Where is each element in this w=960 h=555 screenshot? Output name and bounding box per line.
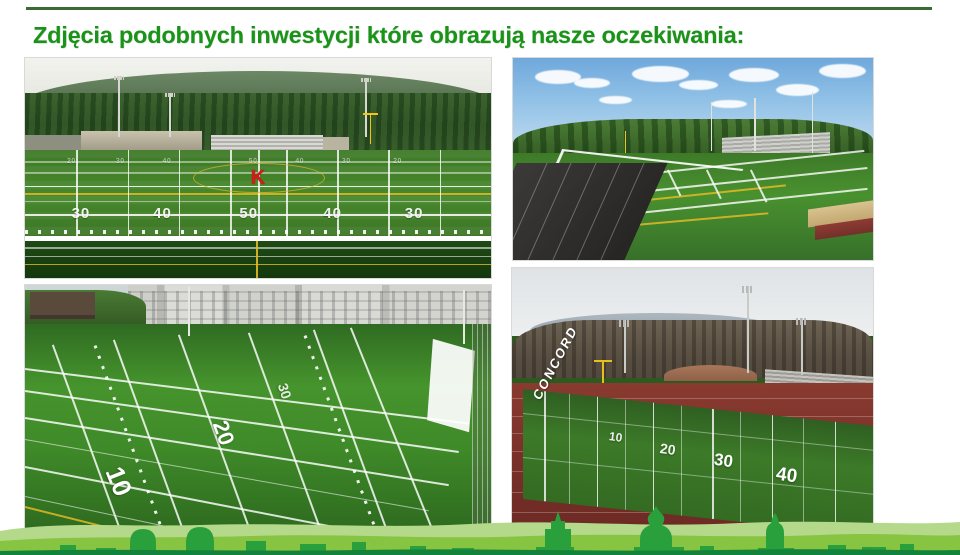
photo-1-scene: K 20 30 40 50 40 30 20 30 40 50 40 30 — [25, 58, 491, 278]
fieldhouse-building — [81, 131, 202, 153]
yard-number: 40 — [774, 463, 798, 488]
baseball-infield — [664, 365, 758, 381]
floodlight-pole — [463, 290, 465, 344]
house-building — [30, 292, 95, 319]
photo-field-with-running-track[interactable] — [513, 58, 873, 260]
skyline-foreground — [0, 549, 960, 555]
yard-number: 10 — [609, 430, 624, 446]
apartment-buildings — [128, 285, 491, 327]
yard-number-small: 40 — [162, 158, 171, 165]
floodlight-pole — [754, 98, 755, 151]
photo-4-scene: CONCORD 10 20 30 40 — [512, 268, 873, 530]
floodlight-pole — [188, 287, 190, 336]
floodlight-pole — [365, 78, 367, 137]
yard-number-small: 50 — [249, 158, 258, 165]
yard-number: 40 — [153, 205, 172, 222]
field-apron — [25, 241, 491, 278]
safety-net — [472, 324, 491, 530]
photo-field-angled-view[interactable]: 10 20 30 — [25, 285, 491, 530]
yard-number-small: 20 — [393, 158, 402, 165]
yard-number-small: 30 — [116, 158, 125, 165]
yard-number: 50 — [239, 205, 258, 222]
goal-post — [370, 113, 372, 144]
midfield-logo: K — [235, 168, 282, 183]
cloud — [819, 64, 866, 78]
skyline-hill-mid — [0, 534, 960, 555]
floodlight-pole — [624, 320, 626, 372]
floodlight-pole — [812, 92, 813, 153]
floodlight-pole — [118, 76, 120, 138]
yard-number-small: 30 — [342, 158, 351, 165]
endzone-stripe — [428, 339, 476, 433]
photo-concord-field[interactable]: CONCORD 10 20 30 40 — [512, 268, 873, 530]
yard-number: 30 — [405, 205, 424, 222]
floodlight-pole — [169, 93, 171, 137]
floodlight-pole — [801, 318, 803, 376]
photo-2-scene — [513, 58, 873, 260]
top-rule-divider — [26, 7, 932, 10]
photo-football-field-straight-on[interactable]: K 20 30 40 50 40 30 20 30 40 50 40 30 — [25, 58, 491, 278]
yard-number: 40 — [323, 205, 342, 222]
photo-3-scene: 10 20 30 — [25, 285, 491, 530]
floodlight-pole — [747, 286, 749, 372]
yard-number-small: 20 — [67, 158, 76, 165]
yard-number: 30 — [713, 450, 735, 472]
floodlight-pole — [711, 102, 712, 150]
slide-canvas: Zdjęcia podobnych inwestycji które obraz… — [0, 0, 960, 555]
page-title: Zdjęcia podobnych inwestycji które obraz… — [33, 20, 933, 50]
yard-number: 30 — [72, 205, 91, 222]
bleachers — [211, 135, 323, 150]
yard-number-small: 40 — [295, 158, 304, 165]
yard-number: 20 — [659, 440, 677, 458]
